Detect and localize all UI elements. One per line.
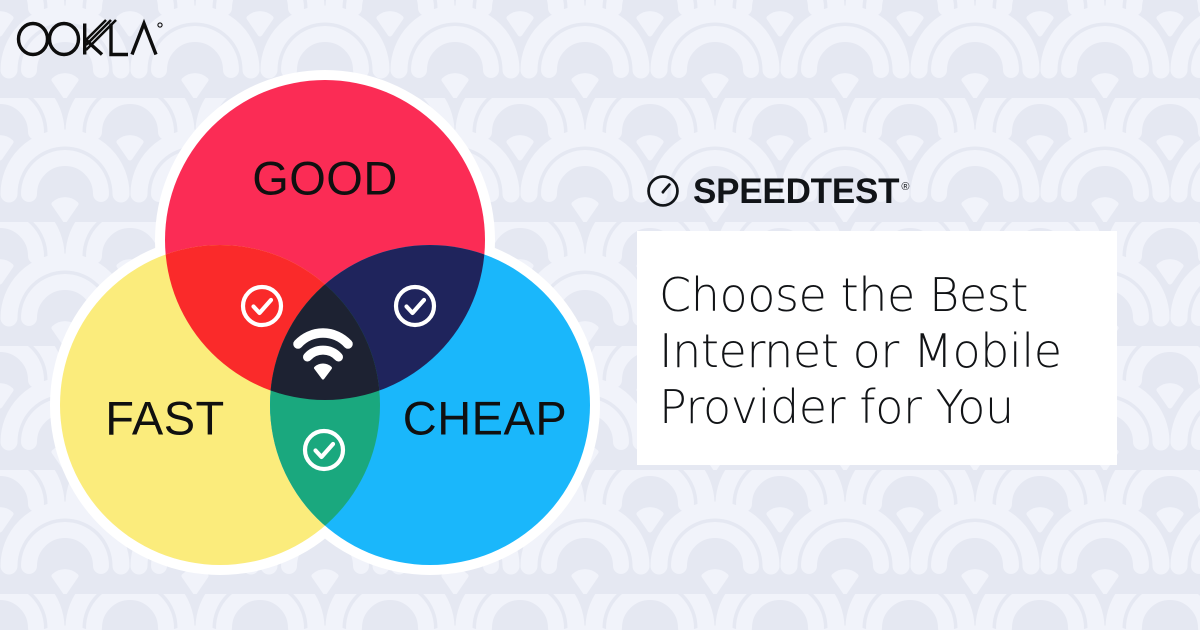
speedometer-gauge-icon [646,174,680,208]
venn-label-cheap: CHEAP [403,391,567,444]
venn-diagram: GOOD FAST CHEAP [30,50,620,590]
headline-line-1: Choose the Best [659,267,1091,323]
speedtest-wordmark-text: SPEEDTEST [693,172,899,211]
speedtest-wordmark: SPEEDTEST® [693,174,909,209]
venn-svg: GOOD FAST CHEAP [30,50,620,590]
headline-line-3: Provider for You [659,379,1091,435]
headline-line-2: Internet or Mobile [659,323,1091,379]
venn-label-fast: FAST [105,391,225,444]
venn-label-good: GOOD [252,151,398,204]
headline-card: Choose the Best Internet or Mobile Provi… [637,231,1117,465]
registered-trademark-symbol: ® [901,181,909,193]
right-column: SPEEDTEST® Choose the Best Internet or M… [637,168,1137,465]
page-title: Choose the Best Internet or Mobile Provi… [659,267,1091,435]
ookla-logo [14,16,164,62]
speedtest-logo: SPEEDTEST® [637,168,1137,214]
